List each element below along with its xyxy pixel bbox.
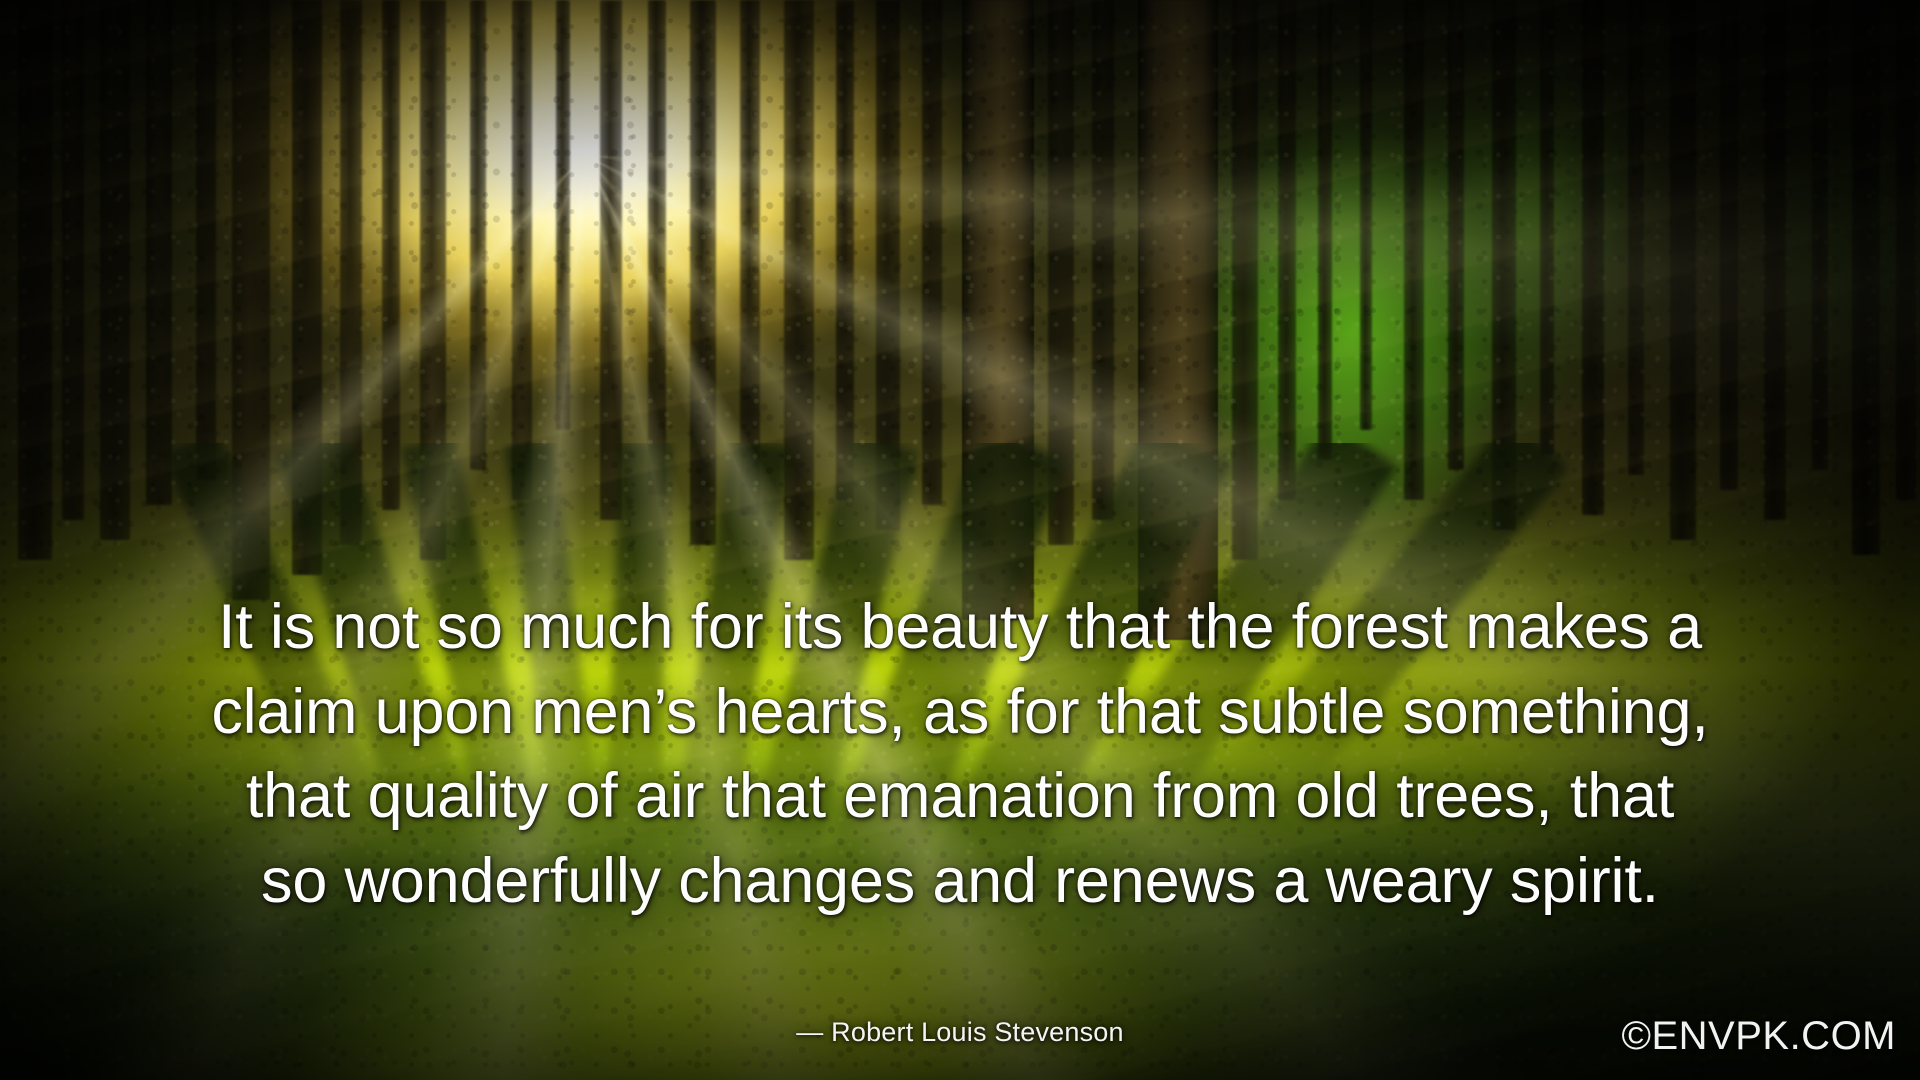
text-overlay: It is not so much for its beauty that th…	[0, 0, 1920, 1080]
quote-text: It is not so much for its beauty that th…	[0, 585, 1920, 924]
site-watermark: ©ENVPK.COM	[1621, 1014, 1896, 1059]
quote-image: It is not so much for its beauty that th…	[0, 0, 1920, 1080]
